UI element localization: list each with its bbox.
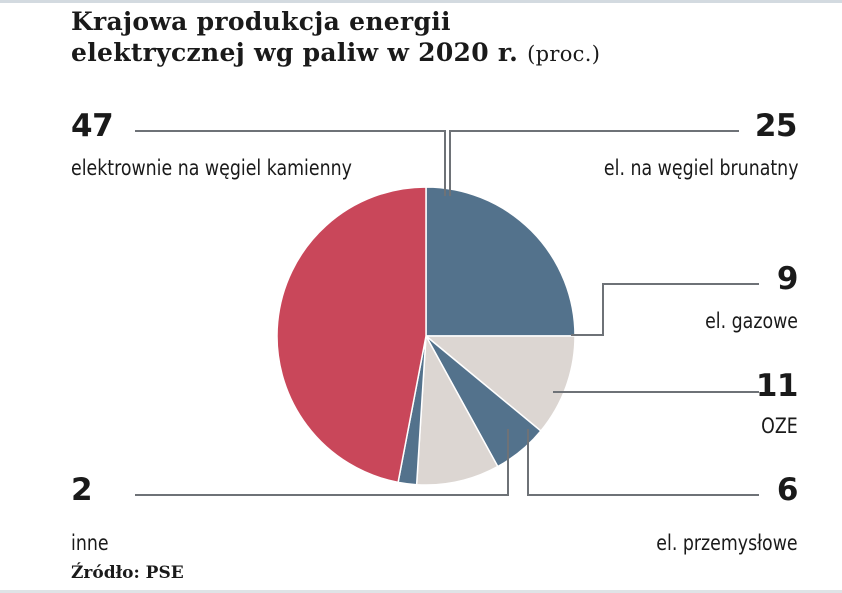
title-text-1: Krajowa produkcja energii — [71, 7, 451, 36]
infographic-page: Krajowa produkcja energii elektrycznej w… — [0, 0, 842, 593]
leader-line-industrial-horizontal — [527, 494, 759, 496]
pie-chart-svg — [272, 186, 580, 486]
callout-value-gas: 9 — [777, 264, 798, 295]
callout-label-hard-coal: elektrownie na węgiel kamienny — [71, 156, 352, 180]
leader-line-brown-coal-horizontal — [449, 130, 739, 132]
callout-value-other: 2 — [71, 475, 92, 506]
pie-slice — [426, 187, 575, 336]
callout-value-brown-coal: 25 — [755, 111, 797, 142]
leader-line-renewables-horizontal — [553, 391, 759, 393]
callout-value-industrial: 6 — [777, 475, 798, 506]
leader-line-hard-coal-horizontal — [135, 130, 446, 132]
source-prefix: Źródło: — [71, 563, 140, 583]
leader-line-brown-coal-vertical — [449, 130, 451, 196]
page-title: Krajowa produkcja energii elektrycznej w… — [71, 6, 831, 70]
title-line-1: Krajowa produkcja energii — [71, 6, 831, 37]
title-text-2: elektrycznej wg paliw w 2020 r. — [71, 38, 518, 67]
callout-label-industrial: el. przemysłowe — [657, 531, 798, 555]
callout-label-other: inne — [71, 531, 109, 555]
callout-value-renewables: 11 — [756, 371, 798, 402]
callout-label-brown-coal: el. na węgiel brunatny — [603, 156, 798, 180]
source-value: PSE — [146, 563, 184, 583]
leader-line-gas-horizontal-upper — [602, 283, 759, 285]
leader-line-other-horizontal — [135, 494, 509, 496]
title-unit: (proc.) — [527, 42, 600, 66]
leader-line-gas-horizontal-lower — [571, 334, 604, 336]
leader-line-other-vertical — [507, 429, 509, 495]
callout-label-renewables: OZE — [761, 414, 798, 438]
leader-line-gas-vertical — [602, 283, 604, 336]
pie-slice — [277, 187, 426, 482]
title-line-2: elektrycznej wg paliw w 2020 r. (proc.) — [71, 37, 831, 70]
leader-line-hard-coal-vertical — [444, 130, 446, 196]
callout-value-hard-coal: 47 — [71, 111, 113, 142]
callout-label-gas: el. gazowe — [705, 309, 798, 333]
source-note: Źródło: PSE — [71, 563, 184, 583]
top-border — [0, 0, 842, 3]
leader-line-industrial-vertical — [527, 429, 529, 495]
pie-chart — [272, 186, 580, 486]
pie-slices — [277, 187, 575, 485]
